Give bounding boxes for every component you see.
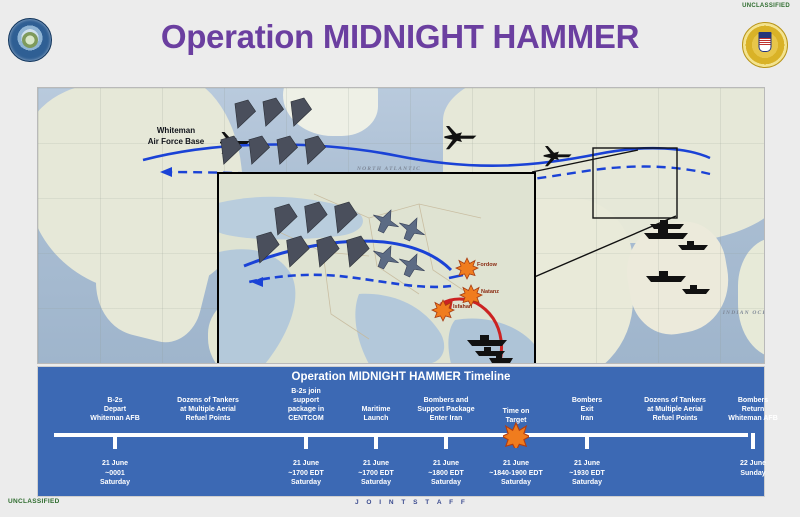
inset-overlay xyxy=(219,174,534,364)
timeline-datetime-line-3: Saturday xyxy=(60,478,170,488)
timeline-event-line-2: Depart xyxy=(67,405,163,414)
timeline-tick xyxy=(304,433,308,449)
naval-ship-icon xyxy=(678,241,708,250)
naval-ship-group xyxy=(644,220,710,294)
timeline-event-line-2: at Multiple Aerial xyxy=(160,405,256,414)
naval-ship-icon xyxy=(650,220,684,229)
timeline-event-line-1: B-2s join xyxy=(258,387,354,396)
timeline-event-datetime: 21 June~0001Saturday xyxy=(60,459,170,488)
timeline-title: Operation MIDNIGHT HAMMER Timeline xyxy=(38,371,764,383)
target-label-natanz: Natanz xyxy=(481,289,499,295)
timeline-datetime-line-1: 21 June xyxy=(532,459,642,469)
timeline-time-on-target-burst-icon xyxy=(503,422,529,448)
timeline-datetime-line-1: 21 June xyxy=(60,459,170,469)
timeline-event-label: BombersExitIran xyxy=(539,396,635,423)
timeline-event-line-1: Dozens of Tankers xyxy=(160,396,256,405)
naval-ship-icon xyxy=(644,228,688,239)
timeline-event-label: BombersReturnWhiteman AFB xyxy=(705,396,800,423)
timeline-event-line-3: Whiteman AFB xyxy=(67,414,163,423)
operation-map: NORTH ATLANTIC OCEAN INDIAN OCEAN Whitem… xyxy=(37,87,765,364)
timeline-tick xyxy=(751,433,755,449)
timeline-tick xyxy=(113,433,117,449)
target-label-isfahan: Isfahan xyxy=(453,304,472,310)
timeline-event-datetime: 22 JuneSunday xyxy=(698,459,800,478)
timeline-datetime-line-2: ~1930 EDT xyxy=(532,469,642,479)
timeline-datetime-line-1: 22 June xyxy=(698,459,800,469)
timeline-event-line-2: Return xyxy=(705,405,800,414)
organization-footer: J O I N T S T A F F xyxy=(355,499,468,506)
timeline-event-line-1: B-2s xyxy=(67,396,163,405)
naval-ship-icon xyxy=(682,285,710,294)
b2-bomber-icon xyxy=(213,132,244,168)
timeline-tick xyxy=(444,433,448,449)
timeline-event-line-1: Bombers xyxy=(539,396,635,405)
operation-timeline: Operation MIDNIGHT HAMMER Timeline B-2sD… xyxy=(37,366,765,497)
timeline-event-line-2: support xyxy=(258,396,354,405)
timeline-event-line-1: Bombers and xyxy=(398,396,494,405)
timeline-event-line-3: Refuel Points xyxy=(160,414,256,423)
classification-marking-bottom: UNCLASSIFIED xyxy=(8,498,60,505)
b2-bomber-icon xyxy=(269,132,300,168)
timeline-tick xyxy=(585,433,589,449)
timeline-event-datetime: 21 June~1930 EDTSaturday xyxy=(532,459,642,488)
aircraft-icon xyxy=(444,126,476,149)
b2-bomber-icon xyxy=(255,94,286,130)
b2-bomber-icon xyxy=(241,132,272,168)
timeline-datetime-line-3: Saturday xyxy=(532,478,642,488)
b2-bomber-icon xyxy=(227,96,258,132)
middle-east-inset-map: Fordow Natanz Isfahan xyxy=(217,172,536,364)
aircraft-icon xyxy=(544,146,572,166)
b2-bomber-icon xyxy=(297,132,328,168)
return-route-arrow xyxy=(160,167,172,177)
theater-callout-box xyxy=(593,148,677,218)
timeline-event-line-3: Whiteman AFB xyxy=(705,414,800,423)
timeline-event-label: B-2sDepartWhiteman AFB xyxy=(67,396,163,423)
timeline-event-line-1: Bombers xyxy=(705,396,800,405)
page-title: Operation MIDNIGHT HAMMER xyxy=(0,18,800,56)
target-label-fordow: Fordow xyxy=(477,262,497,268)
timeline-axis xyxy=(54,433,748,437)
briefing-slide: UNCLASSIFIED Operation MIDNIGHT HAMMER N… xyxy=(0,0,800,517)
timeline-event-line-3: Iran xyxy=(539,414,635,423)
timeline-event-label: Dozens of Tankersat Multiple AerialRefue… xyxy=(160,396,256,423)
b2-bomber-icon xyxy=(283,94,314,130)
classification-marking-top: UNCLASSIFIED xyxy=(742,3,790,9)
timeline-datetime-line-2: Sunday xyxy=(698,469,800,479)
timeline-event-line-2: Exit xyxy=(539,405,635,414)
timeline-datetime-line-2: ~0001 xyxy=(60,469,170,479)
timeline-tick xyxy=(374,433,378,449)
naval-ship-icon xyxy=(646,271,686,282)
